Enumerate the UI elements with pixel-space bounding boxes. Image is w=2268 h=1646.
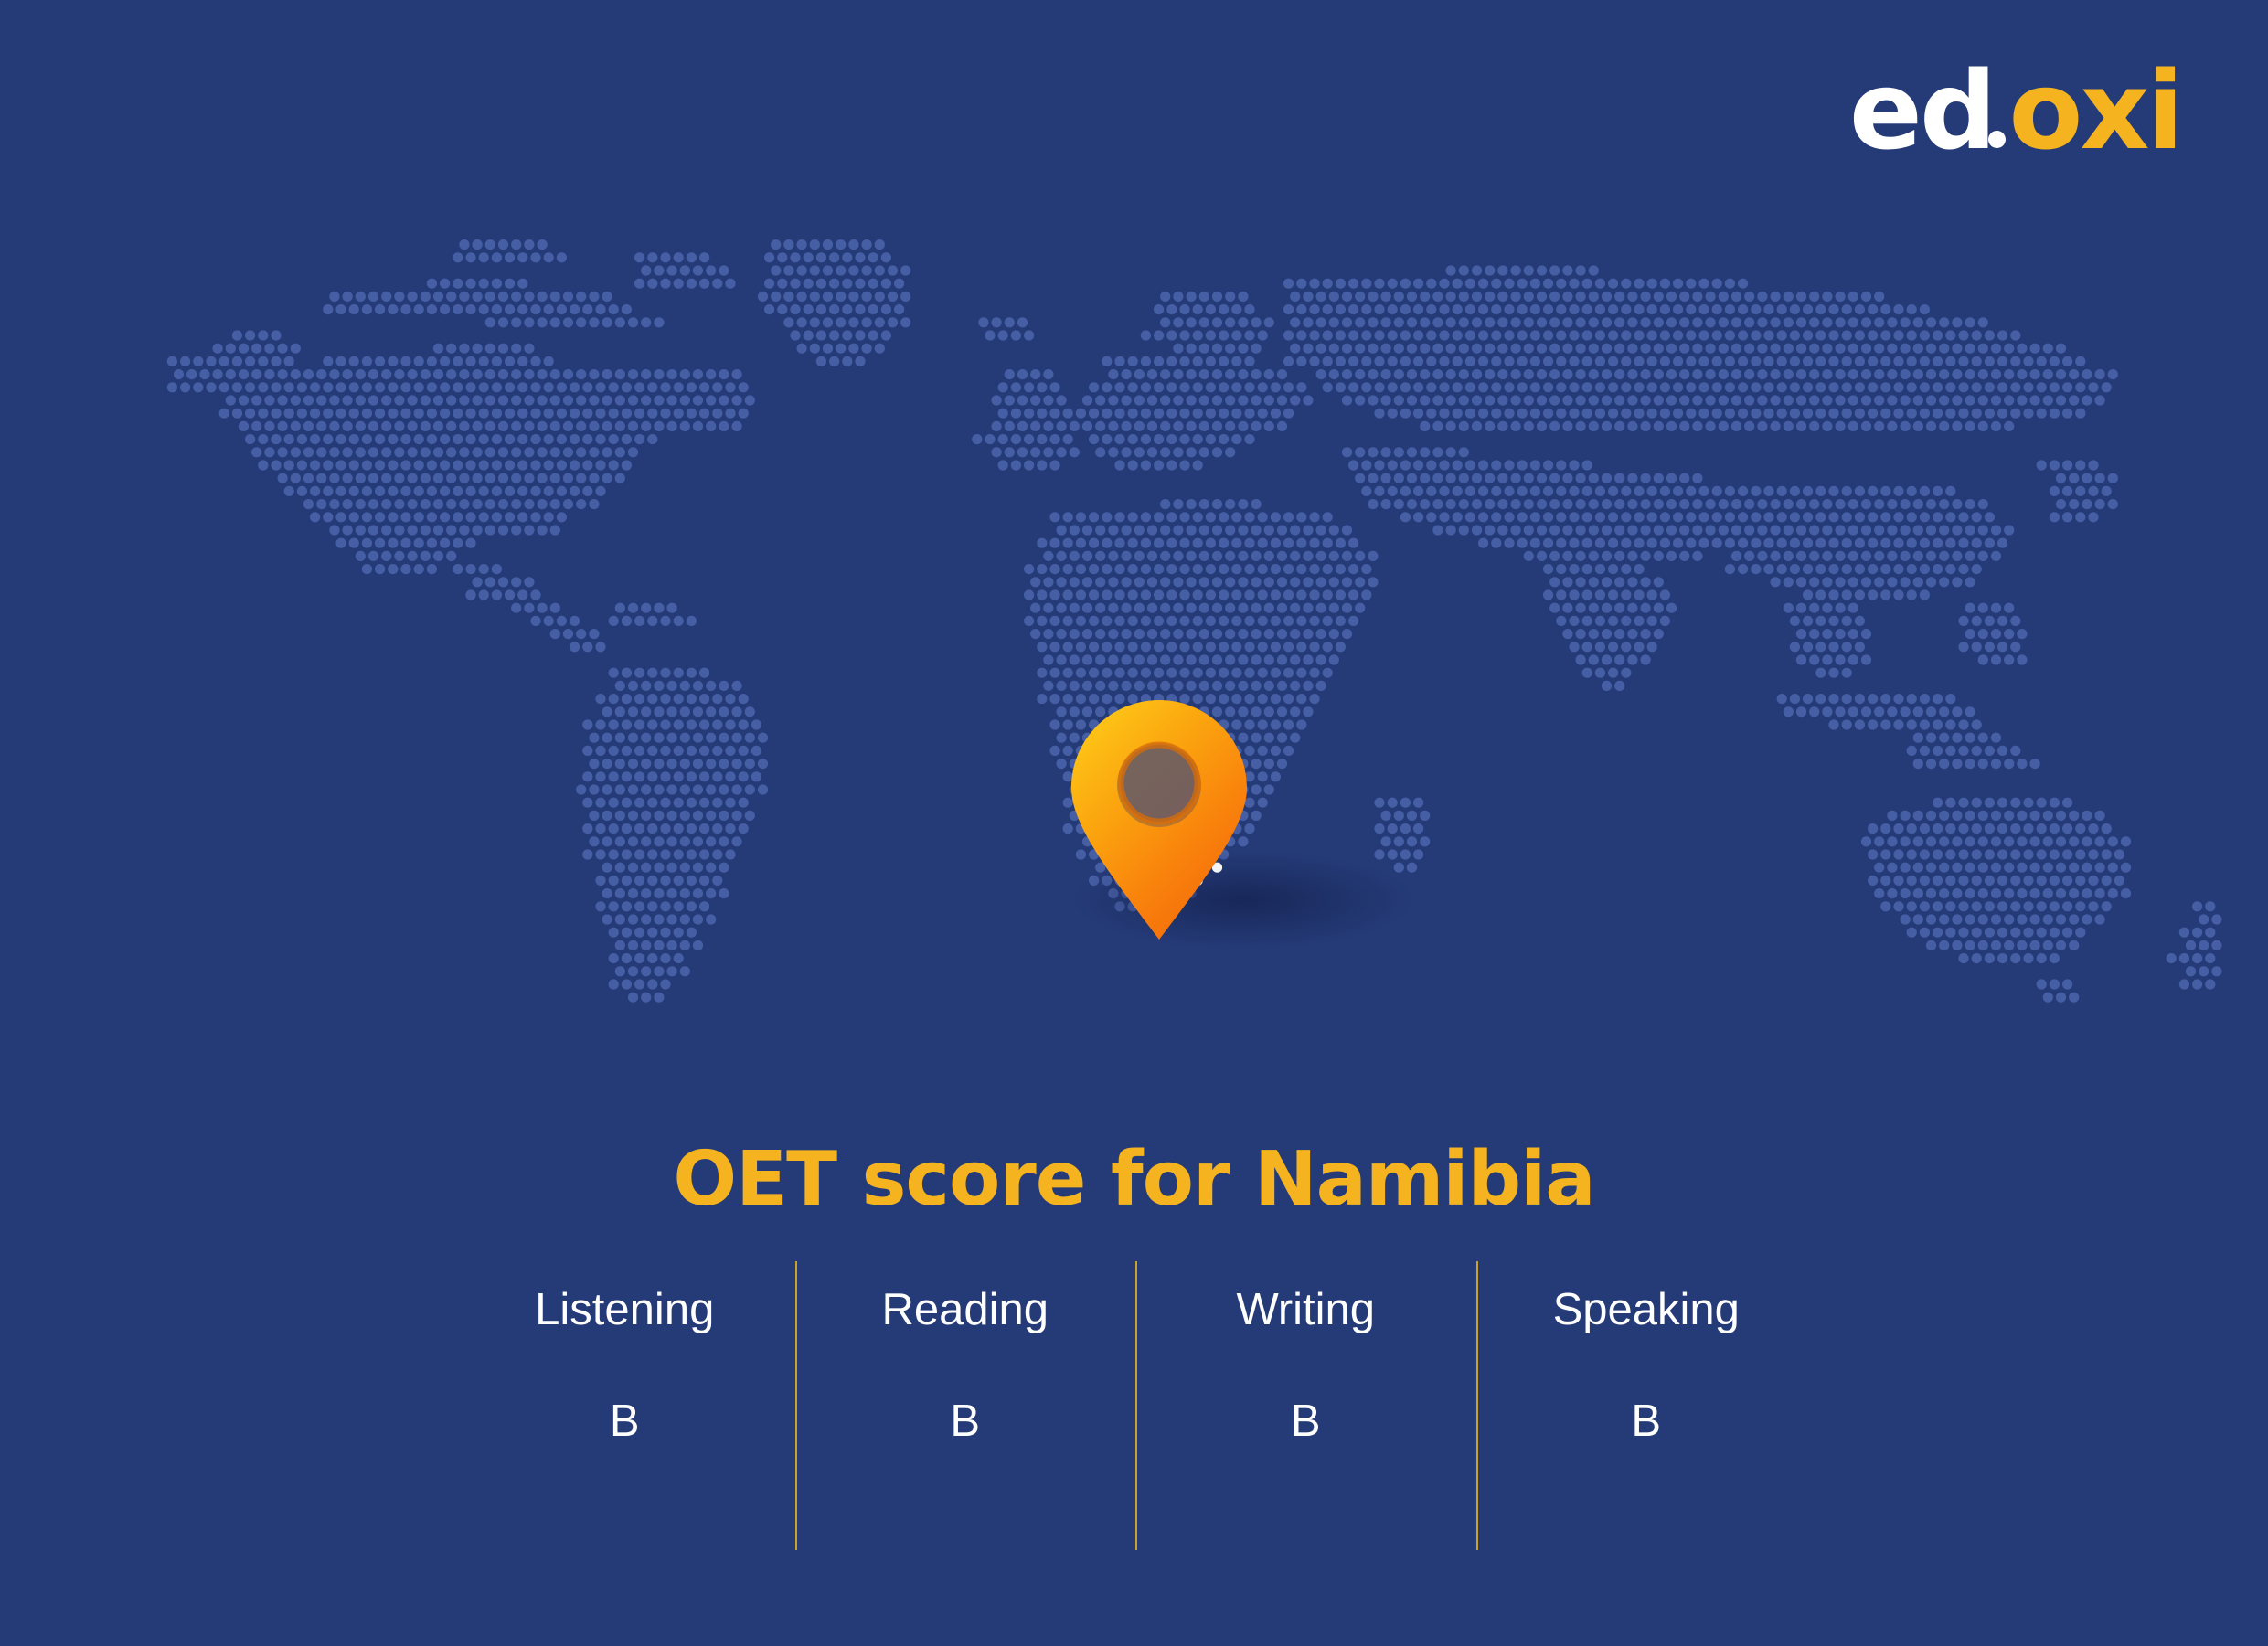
score-column-reading: Reading B (795, 1261, 1136, 1550)
score-column-listening: Listening B (454, 1261, 795, 1550)
column-header-listening: Listening (535, 1286, 714, 1335)
score-column-speaking: Speaking B (1476, 1261, 1817, 1550)
score-column-writing: Writing B (1135, 1261, 1476, 1550)
score-value-reading: B (950, 1397, 980, 1447)
logo-text-amber: oxi (2008, 48, 2181, 174)
column-header-reading: Reading (881, 1286, 1049, 1335)
column-header-speaking: Speaking (1553, 1286, 1740, 1335)
score-value-speaking: B (1631, 1397, 1661, 1447)
score-value-listening: B (610, 1397, 640, 1447)
infographic-canvas: edoxi OET score for Namibia Listening B … (0, 0, 2268, 1646)
column-header-writing: Writing (1236, 1286, 1375, 1335)
edoxi-logo[interactable]: edoxi (1849, 57, 2181, 165)
page-title: OET score for Namibia (0, 1141, 2268, 1219)
logo-dot-icon (1988, 131, 2006, 148)
location-pin-icon (1068, 696, 1251, 943)
logo-text-white: ed (1849, 48, 1995, 174)
oet-score-table: Listening B Reading B Writing B Speaking… (454, 1261, 1816, 1550)
score-value-writing: B (1291, 1397, 1321, 1447)
